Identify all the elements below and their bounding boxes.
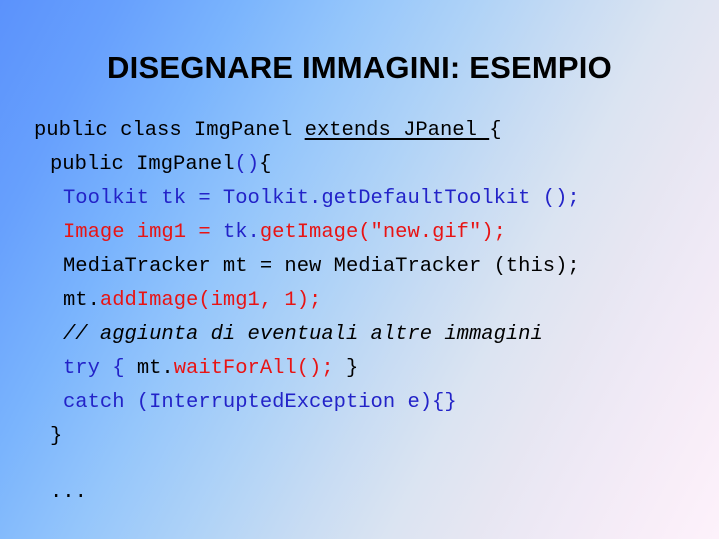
line-constructor-token-1: () bbox=[235, 153, 260, 176]
page-title: DISEGNARE IMMAGINI: ESEMPIO bbox=[0, 50, 719, 86]
line-class-declaration-token-1: extends JPanel bbox=[305, 119, 490, 142]
line-toolkit-token-0: Toolkit tk = Toolkit.getDefaultToolkit (… bbox=[63, 187, 580, 210]
line-class-declaration: public class ImgPanel extends JPanel { bbox=[34, 114, 714, 148]
line-catch-token-0: catch (InterruptedException e){} bbox=[63, 391, 457, 414]
line-comment-token-0: // aggiunta di eventuali altre immagini bbox=[63, 323, 543, 346]
line-ellipsis-token-0: ... bbox=[50, 481, 87, 504]
line-toolkit: Toolkit tk = Toolkit.getDefaultToolkit (… bbox=[34, 182, 714, 216]
line-catch: catch (InterruptedException e){} bbox=[34, 386, 714, 420]
line-try: try { mt.waitForAll(); } bbox=[34, 352, 714, 386]
line-constructor-token-0: public ImgPanel bbox=[50, 153, 235, 176]
line-addimage-token-0: mt. bbox=[63, 289, 100, 312]
line-image: Image img1 = tk.getImage("new.gif"); bbox=[34, 216, 714, 250]
line-try-token-2: waitForAll(); bbox=[174, 357, 334, 380]
line-mediatracker: MediaTracker mt = new MediaTracker (this… bbox=[34, 250, 714, 284]
line-class-declaration-token-2: { bbox=[489, 119, 501, 142]
line-addimage-token-1: addImage(img1, 1); bbox=[100, 289, 321, 312]
line-try-token-0: try { bbox=[63, 357, 137, 380]
line-ellipsis: ... bbox=[34, 476, 714, 510]
line-comment: // aggiunta di eventuali altre immagini bbox=[34, 318, 714, 352]
line-blank bbox=[34, 454, 714, 476]
line-image-token-2: getImage("new.gif"); bbox=[260, 221, 506, 244]
line-try-token-1: mt. bbox=[137, 357, 174, 380]
code-block: public class ImgPanel extends JPanel {pu… bbox=[34, 114, 714, 510]
line-close-brace: } bbox=[34, 420, 714, 454]
line-close-brace-token-0: } bbox=[50, 425, 62, 448]
line-image-token-0: Image img1 = bbox=[63, 221, 223, 244]
line-mediatracker-token-0: MediaTracker mt = new MediaTracker (this… bbox=[63, 255, 580, 278]
line-class-declaration-token-0: public class ImgPanel bbox=[34, 119, 305, 142]
line-image-token-1: tk. bbox=[223, 221, 260, 244]
line-try-token-3: } bbox=[334, 357, 359, 380]
line-constructor-token-2: { bbox=[259, 153, 271, 176]
slide-canvas: DISEGNARE IMMAGINI: ESEMPIO public class… bbox=[0, 0, 719, 539]
line-constructor: public ImgPanel(){ bbox=[34, 148, 714, 182]
line-addimage: mt.addImage(img1, 1); bbox=[34, 284, 714, 318]
